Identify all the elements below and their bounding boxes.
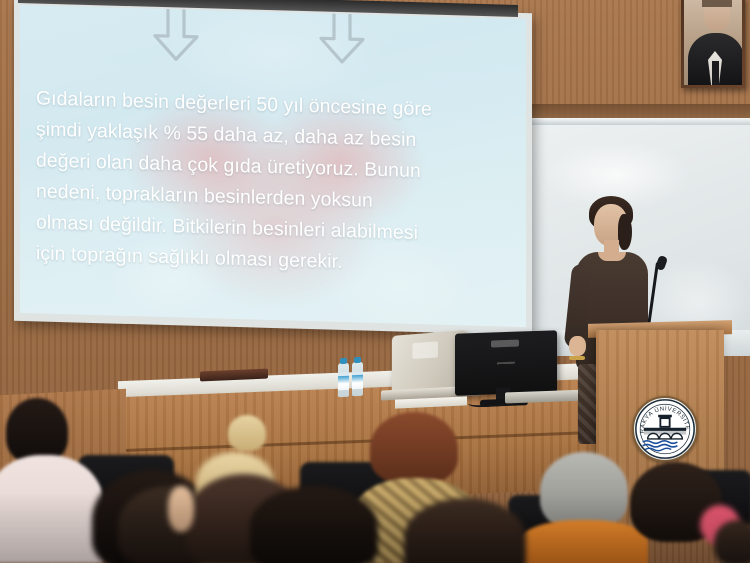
trakya-universitesi-logo-icon: TRAKYA ÜNİVERSİTESİ xyxy=(632,396,698,462)
portrait-ataturk-icon xyxy=(684,0,742,85)
portrait-tie xyxy=(712,61,719,85)
wall-portrait-frame xyxy=(681,0,745,88)
portrait-hair xyxy=(702,0,732,7)
bottle-label xyxy=(338,376,349,390)
bottle-cap xyxy=(354,357,361,363)
down-arrow-left-icon xyxy=(149,5,203,64)
whiteboard-rail xyxy=(523,118,750,125)
bottle-cap xyxy=(340,358,347,364)
laptop-lid-patch xyxy=(413,341,438,359)
audience-shoulders-1 xyxy=(0,455,104,563)
presenter-hair-side xyxy=(618,214,632,250)
water-bottle xyxy=(352,362,363,396)
audience-head-3 xyxy=(228,415,266,451)
wall-trim xyxy=(520,104,750,118)
water-bottle xyxy=(338,363,349,397)
audience-hand xyxy=(168,486,194,532)
down-arrow-right-icon xyxy=(315,5,369,67)
audience-head-11 xyxy=(714,520,750,563)
presenter-hand xyxy=(569,336,586,356)
monitor-logo-icon xyxy=(491,340,519,348)
projected-slide: Gıdaların besin değerleri 50 yıl öncesin… xyxy=(20,5,526,327)
audience-head-6 xyxy=(370,412,458,484)
presentation-photo-scene: Gıdaların besin değerleri 50 yıl öncesin… xyxy=(0,0,750,563)
audience-head-7 xyxy=(540,452,628,530)
slide-body-text: Gıdaların besin değerleri 50 yıl öncesin… xyxy=(36,83,506,282)
audience-head-9 xyxy=(250,486,378,563)
audience-shoulders-7 xyxy=(520,520,648,563)
presenter-bracelet xyxy=(569,356,585,360)
bottle-label xyxy=(352,375,363,389)
monitor-buttons[interactable] xyxy=(497,362,515,379)
monitor xyxy=(455,330,557,396)
